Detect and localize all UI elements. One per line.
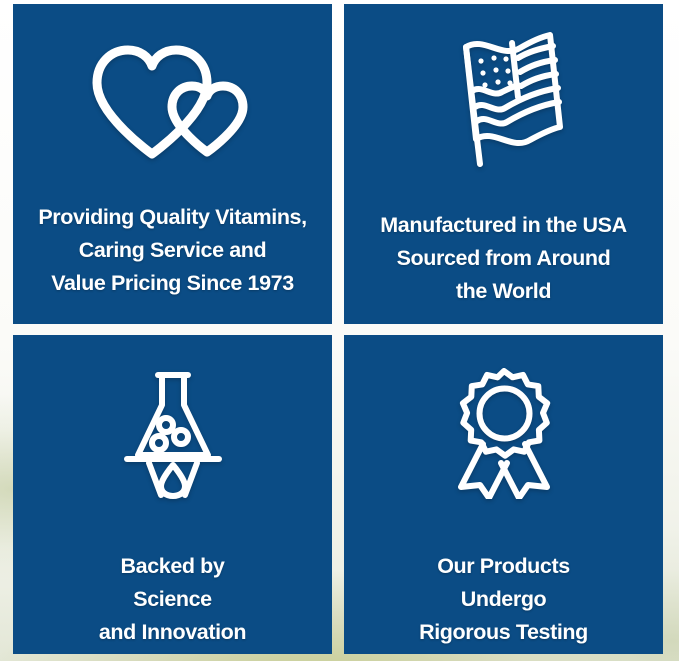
feature-panel-quality-vitamins[interactable]: Providing Quality Vitamins, Caring Servi…	[13, 4, 332, 324]
panel-caption: Backed by Science and Innovation	[13, 550, 332, 649]
panel-content: Providing Quality Vitamins, Caring Servi…	[13, 4, 332, 324]
caption-line: Rigorous Testing	[354, 616, 653, 649]
feature-panel-made-in-usa[interactable]: Manufactured in the USA Sourced from Aro…	[344, 4, 663, 324]
feature-panel-backed-by-science[interactable]: Backed by Science and Innovation	[13, 335, 332, 655]
caption-line: Undergo	[354, 583, 653, 616]
two-hearts-icon	[89, 4, 257, 179]
caption-line: Caring Service and	[23, 234, 322, 267]
caption-line: the World	[354, 275, 653, 308]
feature-grid-banner: Providing Quality Vitamins, Caring Servi…	[0, 0, 679, 661]
panel-caption: Manufactured in the USA Sourced from Aro…	[344, 209, 663, 308]
panel-content: Our Products Undergo Rigorous Testing	[344, 335, 663, 655]
feature-panel-grid: Providing Quality Vitamins, Caring Servi…	[13, 4, 663, 654]
panel-content: Backed by Science and Innovation	[13, 335, 332, 655]
caption-line: Our Products	[354, 550, 653, 583]
caption-line: Science	[23, 583, 322, 616]
usa-flag-icon	[440, 4, 568, 179]
panel-caption: Our Products Undergo Rigorous Testing	[344, 550, 663, 649]
feature-panel-rigorous-testing[interactable]: Our Products Undergo Rigorous Testing	[344, 335, 663, 655]
lab-flask-icon	[121, 335, 225, 510]
caption-line: Value Pricing Since 1973	[23, 267, 322, 300]
caption-line: Backed by	[23, 550, 322, 583]
panel-content: Manufactured in the USA Sourced from Aro…	[344, 4, 663, 324]
caption-line: and Innovation	[23, 616, 322, 649]
caption-line: Providing Quality Vitamins,	[23, 201, 322, 234]
caption-line: Manufactured in the USA	[354, 209, 653, 242]
caption-line: Sourced from Around	[354, 242, 653, 275]
panel-caption: Providing Quality Vitamins, Caring Servi…	[13, 201, 332, 300]
award-ribbon-icon	[447, 335, 561, 510]
